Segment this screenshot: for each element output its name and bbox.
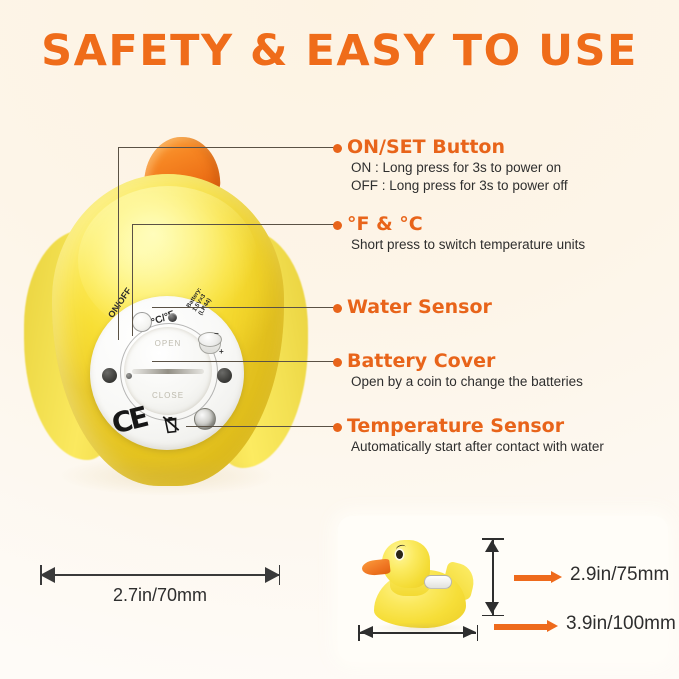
knob-minus-sign: − (214, 329, 219, 338)
height-dimension (480, 538, 506, 616)
callout-line: ON : Long press for 3s to power on (351, 159, 568, 176)
callout-line: Open by a coin to change the batteries (351, 373, 583, 390)
callout-line: OFF : Long press for 3s to power off (351, 177, 568, 194)
onset-button[interactable] (132, 312, 152, 332)
page-title: SAFETY & EASY TO USE (0, 26, 679, 76)
water-sensor (168, 313, 177, 322)
height-arrow-up-icon (485, 540, 499, 552)
knob-plus-sign: + (219, 347, 224, 356)
callout-onset-button: ON/SET Button ON : Long press for 3s to … (347, 136, 568, 194)
inset-width-cap-right (477, 625, 479, 641)
dimension-label: 2.7in/70mm (30, 585, 290, 606)
callout-battery-cover: Battery Cover Open by a coin to change t… (347, 350, 583, 390)
height-arrow-down-icon (485, 602, 499, 614)
duck-side-view (360, 532, 470, 628)
dimension-arrow-right-icon (265, 567, 280, 583)
ce-mark-icon: CE (109, 400, 150, 440)
panel-dot-small (126, 373, 132, 379)
callout-heading: Battery Cover (347, 350, 583, 372)
product-infographic: SAFETY & EASY TO USE OPEN CLOSE ON/OFF °… (0, 0, 679, 679)
callout-water-sensor: Water Sensor (347, 296, 492, 318)
duck-shadow (58, 456, 276, 496)
callout-bullet-icon (333, 221, 342, 230)
dimension-line (40, 574, 280, 576)
inset-width-label: 3.9in/100mm (566, 613, 676, 635)
callout-bullet-icon (333, 304, 342, 313)
duck-sensor-insert (424, 575, 452, 589)
battery-cover-close-text: CLOSE (124, 391, 212, 400)
leader-line-unit-vertical (132, 224, 133, 336)
duck-beak-side (361, 559, 390, 577)
inset-width-arrow-right-icon (463, 626, 476, 638)
callout-line: Short press to switch temperature units (351, 236, 585, 253)
leader-line-onset-vertical (118, 147, 119, 340)
screw-knob[interactable]: − + (198, 332, 220, 356)
callout-temperature-units: °F & °C Short press to switch temperatur… (347, 213, 585, 253)
panel-dot-left (102, 368, 117, 383)
inset-width-dimension (356, 624, 480, 642)
orange-arrow-width-icon (494, 620, 558, 632)
callout-heading: ON/SET Button (347, 136, 568, 158)
leader-line-onset-horizontal (118, 147, 338, 148)
width-dimension: 2.7in/70mm (30, 565, 290, 625)
panel-dot-right (217, 368, 232, 383)
duck-thermometer-back-view: OPEN CLOSE ON/OFF °C/°F Battery:1.5V×3(L… (18, 120, 318, 490)
callout-heading: Temperature Sensor (347, 415, 604, 437)
callout-heading: °F & °C (347, 213, 585, 235)
inset-width-line (360, 632, 476, 634)
callout-bullet-icon (333, 144, 342, 153)
callout-heading: Water Sensor (347, 296, 492, 318)
callout-bullet-icon (333, 423, 342, 432)
coin-slot[interactable] (132, 369, 204, 374)
callout-bullet-icon (333, 358, 342, 367)
leader-line-water-sensor (152, 307, 338, 308)
weee-bin-icon (161, 413, 181, 435)
callout-line: Automatically start after contact with w… (351, 438, 604, 455)
orange-arrow-height-icon (514, 571, 562, 583)
size-inset-panel: 2.9in/75mm 3.9in/100mm (338, 516, 668, 662)
inset-height-label: 2.9in/75mm (570, 564, 669, 586)
leader-line-battery-cover (152, 361, 338, 362)
leader-line-unit-horizontal (132, 224, 338, 225)
callout-temperature-sensor: Temperature Sensor Automatically start a… (347, 415, 604, 455)
dimension-arrow-left-icon (40, 567, 55, 583)
inset-width-arrow-left-icon (360, 626, 373, 638)
leader-line-temperature-sensor (186, 426, 338, 427)
